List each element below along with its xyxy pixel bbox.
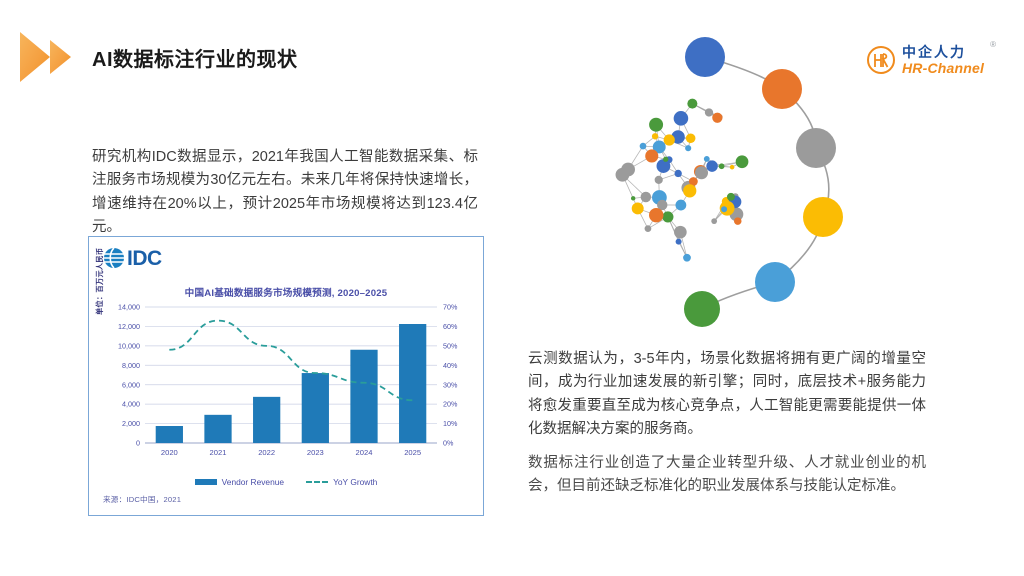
double-chevron-icon [16,28,82,86]
network-node [663,157,668,162]
network-node [683,184,696,197]
network-node [640,143,647,150]
network-nodes-icon [600,20,870,340]
network-node [683,254,691,262]
network-node [704,156,710,162]
hr-monogram-icon [866,45,896,75]
chart-y2-tick: 40% [443,361,458,370]
network-node [676,239,682,245]
right-paragraph-1: 云测数据认为，3-5年内，场景化数据将拥有更广阔的增量空间，成为行业加速发展的新… [528,348,926,442]
network-node [674,226,687,239]
network-node [687,99,697,109]
network-node [631,196,635,200]
network-node [705,108,713,116]
network-node [674,111,689,126]
network-node [649,208,663,222]
chart-bar [302,373,329,443]
chart-y-tick: 6,000 [122,380,140,389]
network-node [734,217,742,225]
network-node [649,118,663,132]
chart-y-tick: 4,000 [122,400,140,409]
registered-mark: ® [990,40,996,49]
arc-node-gray [796,128,836,168]
chart-legend: Vendor Revenue YoY Growth [89,477,483,487]
legend-item-vendor-revenue: Vendor Revenue [195,477,284,487]
network-node [721,206,727,212]
arc-node-green [684,291,720,327]
network-node [695,166,708,179]
right-paragraph-2: 数据标注行业创造了大量企业转型升级、人才就业创业的机会，但目前还缺乏标准化的职业… [528,452,926,499]
arc-node-orange [762,69,802,109]
arc-node-blue [685,37,725,77]
network-node [685,145,691,151]
chart-x-tick: 2020 [161,448,178,457]
legend-label-vendor-revenue: Vendor Revenue [222,477,284,487]
network-node [736,155,749,168]
network-node [652,133,658,139]
chart-title: 中国AI基础数据服务市场规模预测, 2020–2025 [89,285,483,299]
chart-y-tick: 2,000 [122,419,140,428]
chart-y-tick: 0 [136,439,140,448]
chart-x-tick: 2022 [258,448,275,457]
idc-chart-card: IDC 中国AI基础数据服务市场规模预测, 2020–2025 单位：百万元人民… [88,236,484,516]
arc-node-lightblue [755,262,795,302]
legend-item-yoy-growth: YoY Growth [306,477,377,487]
arc-node-yellow [803,197,843,237]
idc-logo: IDC [103,247,162,269]
network-node [664,134,675,145]
page-title: AI数据标注行业的现状 [92,43,298,72]
chart-bar [204,415,231,443]
chart-source-note: 来源：IDC中国，2021 [103,494,181,505]
network-node [645,149,658,162]
chart-y2-tick: 20% [443,400,458,409]
network-node [674,170,681,177]
legend-swatch-bar [195,479,217,485]
chart-bar [253,397,280,443]
chart-y2-tick: 30% [443,380,458,389]
chart-y-tick: 14,000 [118,303,140,312]
network-node [712,113,722,123]
legend-label-yoy-growth: YoY Growth [333,477,377,487]
network-node [719,163,725,169]
idc-globe-icon [103,247,125,269]
legend-swatch-line [306,481,328,483]
chart-y-tick: 12,000 [118,322,140,331]
chart-x-tick: 2024 [356,448,373,457]
network-node [616,168,630,182]
chart-bar [399,324,426,443]
chart-bar [156,426,183,443]
brand-name-en: HR-Channel [902,60,984,76]
network-node [645,225,652,232]
network-node [727,193,735,201]
chart-x-tick: 2023 [307,448,324,457]
network-node [730,165,735,170]
chart-x-tick: 2025 [404,448,421,457]
network-node [655,176,663,184]
network-node [686,133,696,143]
chart-bar [350,350,377,443]
network-node [662,211,673,222]
brand-logo: 中企人力 HR-Channel ® [866,38,996,82]
network-node [675,200,686,211]
brand-text: 中企人力 HR-Channel [902,44,984,76]
network-node [641,192,651,202]
network-node [632,202,644,214]
chart-y-tick: 8,000 [122,361,140,370]
idc-wordmark: IDC [127,248,162,269]
chart-y2-tick: 10% [443,419,458,428]
chart-y2-tick: 60% [443,322,458,331]
brand-name-cn: 中企人力 [902,44,984,60]
chart-x-tick: 2021 [210,448,227,457]
chart-y2-tick: 70% [443,303,458,312]
network-node [657,159,671,173]
slide-root: AI数据标注行业的现状 中企人力 HR-Channel ® 研究机构IDC数据显… [0,0,1024,576]
network-node [711,218,717,224]
chart-y2-tick: 0% [443,439,454,448]
chart-canvas: 02,0004,0006,0008,00010,00012,00014,0000… [89,299,485,477]
chart-y2-tick: 50% [443,341,458,350]
chart-plot-area: 02,0004,0006,0008,00010,00012,00014,0000… [89,299,485,477]
chart-y-tick: 10,000 [118,341,140,350]
network-node [706,160,717,171]
left-paragraph: 研究机构IDC数据显示，2021年我国人工智能数据采集、标注服务市场规模为30亿… [92,146,478,240]
